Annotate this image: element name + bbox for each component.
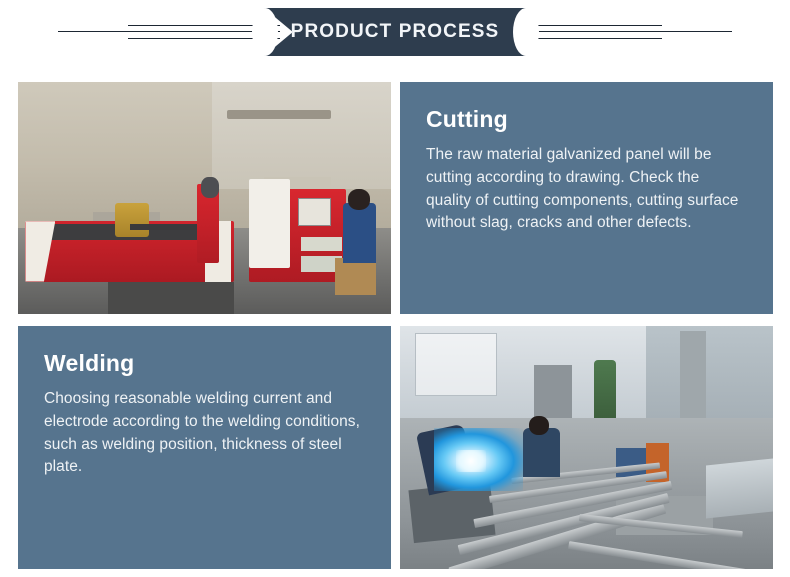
cabinet-door (249, 179, 290, 267)
process-card-grid: Cutting The raw material galvanized pane… (18, 82, 773, 569)
header-rules-right (510, 0, 790, 66)
welding-photo (400, 326, 773, 569)
operator-head (348, 189, 370, 210)
factory-window (415, 333, 497, 396)
steel-frame-dark (409, 482, 496, 544)
cutting-head (201, 177, 220, 198)
header-rules-left (0, 0, 280, 66)
page-title: PRODUCT PROCESS (291, 21, 500, 43)
header-ribbon: PRODUCT PROCESS (264, 8, 526, 56)
steel-sheet-stack (706, 459, 773, 520)
welding-arc-core (456, 450, 486, 472)
header-rule-left-middle (58, 31, 280, 32)
cabinet-drawer-upper (301, 237, 342, 251)
brass-barrel (115, 203, 149, 238)
header-rule-right-middle (510, 31, 732, 32)
cabinet-screen (298, 198, 332, 226)
cutting-text: Cutting The raw material galvanized pane… (400, 82, 773, 314)
ribbon-notch-left (252, 8, 278, 56)
welding-title: Welding (44, 350, 365, 377)
welding-description: Choosing reasonable welding current and … (44, 388, 365, 479)
welder-background-head (529, 416, 550, 435)
operator-body (343, 203, 377, 263)
floor-mat (108, 282, 235, 314)
cutting-photo (18, 82, 391, 314)
tool-rack (534, 365, 571, 418)
ceiling-beam (227, 110, 331, 119)
gas-cylinder (594, 360, 616, 423)
page-header: PRODUCT PROCESS (0, 0, 790, 66)
cutting-description: The raw material galvanized panel will b… (426, 144, 747, 235)
cutting-title: Cutting (426, 106, 747, 133)
workshop-wall-right (212, 82, 391, 189)
operator-stool (335, 258, 376, 295)
ribbon-notch-right (513, 8, 539, 56)
welder-background (523, 428, 560, 477)
welding-text: Welding Choosing reasonable welding curr… (18, 326, 391, 569)
